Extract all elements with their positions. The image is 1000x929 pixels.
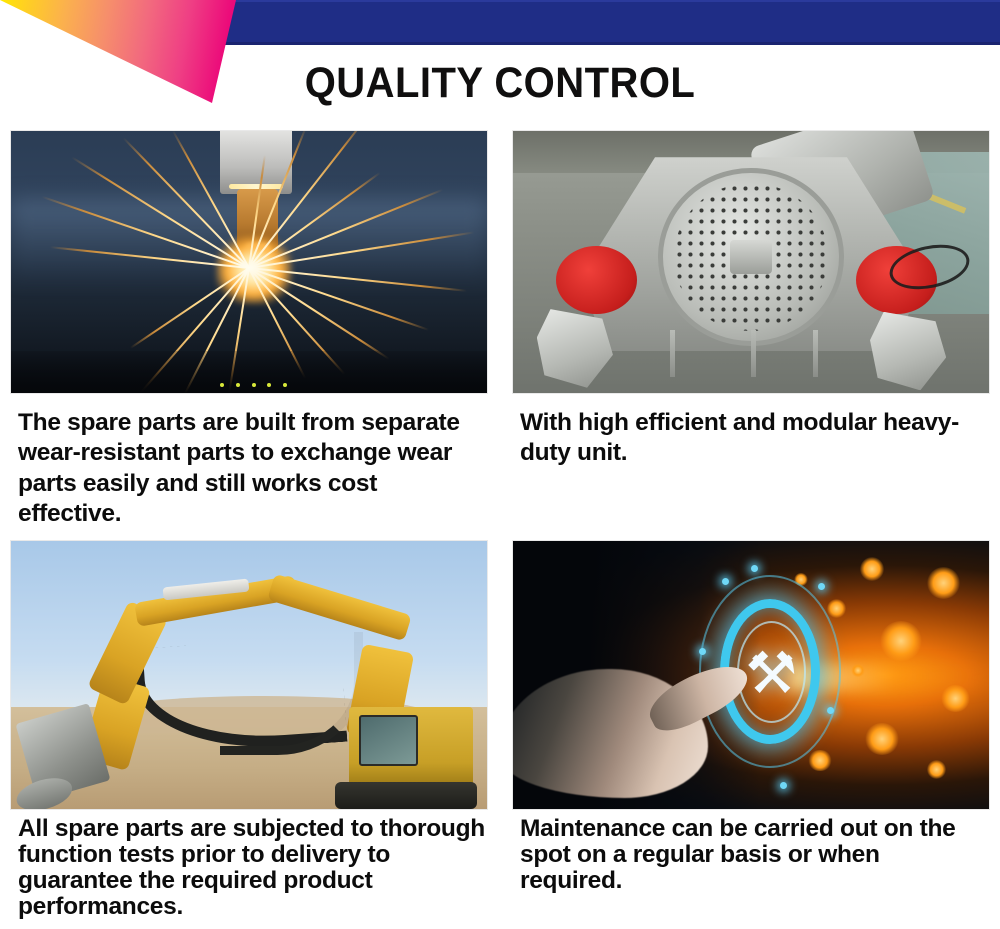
page-title: QUALITY CONTROL xyxy=(35,62,965,105)
support-leg xyxy=(813,330,818,377)
perforated-cutter-face xyxy=(658,168,844,346)
excavator-cab xyxy=(349,707,473,787)
quality-control-grid: The spare parts are built from separate … xyxy=(0,130,1000,920)
card-modular-unit: With high efficient and modular heavy-du… xyxy=(512,130,990,530)
card-caption: With high efficient and modular heavy-du… xyxy=(512,394,990,469)
card-caption: The spare parts are built from separate … xyxy=(10,394,488,530)
maintenance-hologram-photo: ⚒ xyxy=(512,540,990,810)
header-blue-band xyxy=(225,0,1000,45)
excavator-track xyxy=(335,782,478,809)
laser-indicator-leds xyxy=(220,383,287,387)
card-maintenance: ⚒ Maintenance can be carried out on the … xyxy=(512,540,990,921)
page-header: QUALITY CONTROL xyxy=(0,0,1000,130)
card-function-tests: All spare parts are subjected to thoroug… xyxy=(10,540,488,921)
cutter-face-hub xyxy=(730,240,772,274)
cutter-claw-left xyxy=(537,309,613,388)
red-hub-left xyxy=(556,246,637,314)
cab-window xyxy=(359,715,418,766)
card-spare-parts: The spare parts are built from separate … xyxy=(10,130,488,530)
support-leg xyxy=(751,330,756,377)
card-caption: Maintenance can be carried out on the sp… xyxy=(512,810,990,895)
cutter-drum-unit-photo xyxy=(512,130,990,394)
excavator-drum-cutter-photo xyxy=(10,540,488,810)
laser-cutting-sparks-photo xyxy=(10,130,488,394)
cutter-claw-right xyxy=(870,312,946,391)
card-caption: All spare parts are subjected to thoroug… xyxy=(10,810,488,921)
support-leg xyxy=(670,330,675,377)
tools-icon: ⚒ xyxy=(739,626,803,722)
